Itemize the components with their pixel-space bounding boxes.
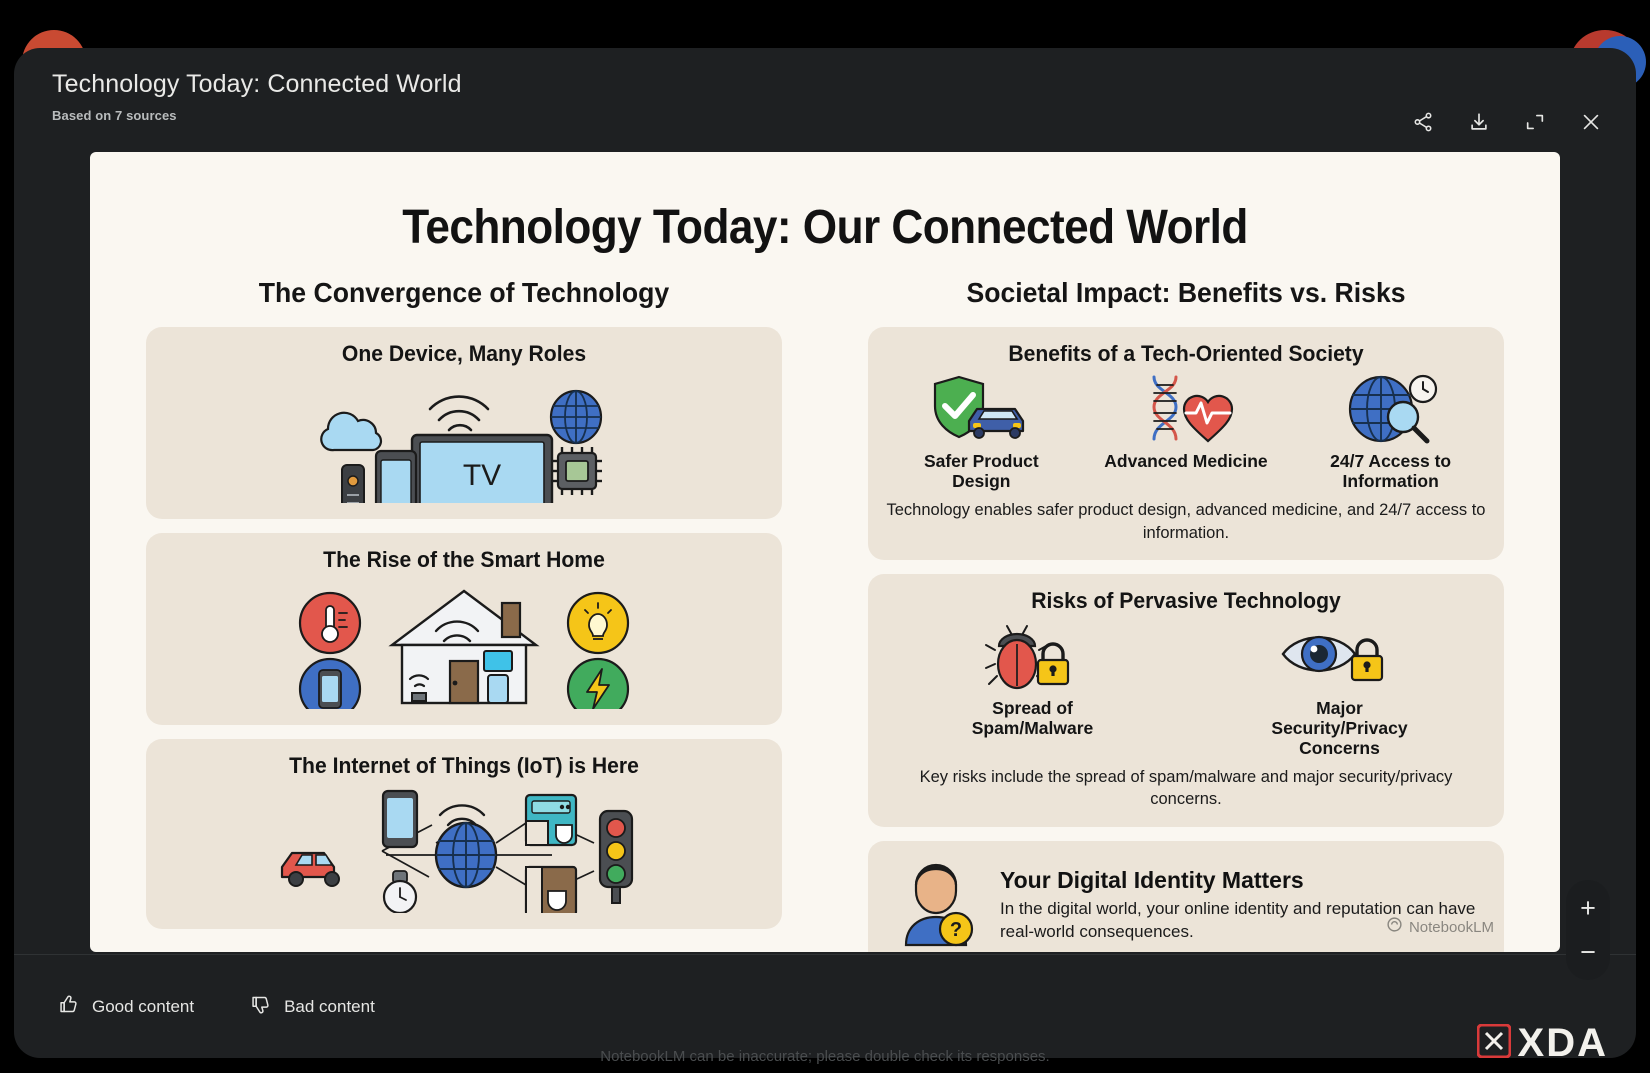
good-content-label: Good content [92,997,194,1017]
left-column: The Convergence of Technology One Device… [146,277,782,952]
benefits-description: Technology enables safer product design,… [884,499,1488,544]
eye-lock-icon [1275,620,1405,694]
benefit-label: Advanced Medicine [1104,451,1267,471]
benefits-items: Safer Product Design [884,373,1488,491]
infographic-slide[interactable]: Technology Today: Our Connected World Th… [90,152,1560,952]
page-title: Technology Today: Connected World [52,68,1598,100]
benefit-label: 24/7 Access to Information [1306,451,1476,491]
benefit-item: Advanced Medicine [1101,373,1271,471]
share-icon [1412,111,1434,133]
tv-devices-illustration: TV [162,373,766,503]
sources-subtitle: Based on 7 sources [52,108,1598,123]
bad-content-button[interactable]: Bad content [250,994,375,1020]
download-button[interactable] [1464,107,1494,137]
close-icon [1580,111,1602,133]
identity-title: Your Digital Identity Matters [1000,867,1482,894]
card-title: Risks of Pervasive Technology [896,588,1476,614]
zoom-in-button[interactable]: + [1566,886,1610,930]
risk-label: Major Security/Privacy Concerns [1255,698,1425,758]
svg-text:TV: TV [463,459,501,492]
card-benefits: Benefits of a Tech-Oriented Society [868,327,1504,560]
left-column-heading: The Convergence of Technology [162,277,766,309]
card-risks: Risks of Pervasive Technology [868,574,1504,827]
xda-mark-icon [1477,1024,1511,1058]
notebooklm-overlay-panel: Technology Today: Connected World Based … [14,48,1636,1058]
disclaimer-text: NotebookLM can be inaccurate; please dou… [0,1048,1650,1065]
dna-heart-icon [1130,373,1242,447]
shield-check-car-icon [925,373,1037,447]
benefit-item: 24/7 Access to Information [1306,373,1476,491]
iot-network-illustration [162,785,766,913]
zoom-out-button[interactable]: − [1566,930,1610,974]
risk-item: Spread of Spam/Malware [948,620,1118,738]
thumbs-down-icon [250,994,271,1020]
globe-search-clock-icon [1335,373,1447,447]
notebooklm-logo-icon [1386,916,1403,938]
card-internet-of-things: The Internet of Things (IoT) is Here [146,739,782,929]
card-title: One Device, Many Roles [174,341,754,367]
good-content-button[interactable]: Good content [58,994,194,1020]
zoom-controls: + − [1566,880,1610,980]
screen: Technology Today: Connected World Based … [0,0,1650,1073]
notebooklm-watermark-text: NotebookLM [1409,919,1494,936]
share-button[interactable] [1408,107,1438,137]
risk-item: Major Security/Privacy Concerns [1255,620,1425,758]
collapse-button[interactable] [1520,107,1550,137]
panel-header: Technology Today: Connected World Based … [14,48,1636,134]
xda-logo: XDA [1477,1021,1608,1058]
card-rise-of-smart-home: The Rise of the Smart Home [146,533,782,725]
close-button[interactable] [1576,107,1606,137]
risks-items: Spread of Spam/Malware [884,620,1488,758]
risk-label: Spread of Spam/Malware [948,698,1118,738]
card-title: The Internet of Things (IoT) is Here [174,753,754,779]
notebooklm-watermark: NotebookLM [1386,916,1494,938]
card-title: Benefits of a Tech-Oriented Society [896,341,1476,367]
slide-title: Technology Today: Our Connected World [180,200,1470,255]
collapse-icon [1524,111,1546,133]
panel-footer: Good content Bad content [14,954,1636,1058]
right-column-heading: Societal Impact: Benefits vs. Risks [884,277,1488,309]
smart-home-illustration [162,579,766,709]
header-actions [1408,107,1606,137]
right-column: Societal Impact: Benefits vs. Risks Bene… [868,277,1504,952]
svg-text:?: ? [950,919,962,941]
risks-description: Key risks include the spread of spam/mal… [884,766,1488,811]
bug-lock-icon [977,620,1089,694]
bad-content-label: Bad content [284,997,375,1017]
benefit-label: Safer Product Design [896,451,1066,491]
xda-wordmark: XDA [1518,1021,1608,1058]
person-question-icon: ? [890,857,982,952]
benefit-item: Safer Product Design [896,373,1066,491]
card-one-device-many-roles: One Device, Many Roles [146,327,782,519]
thumbs-up-icon [58,994,79,1020]
card-title: The Rise of the Smart Home [174,547,754,573]
download-icon [1468,111,1490,133]
